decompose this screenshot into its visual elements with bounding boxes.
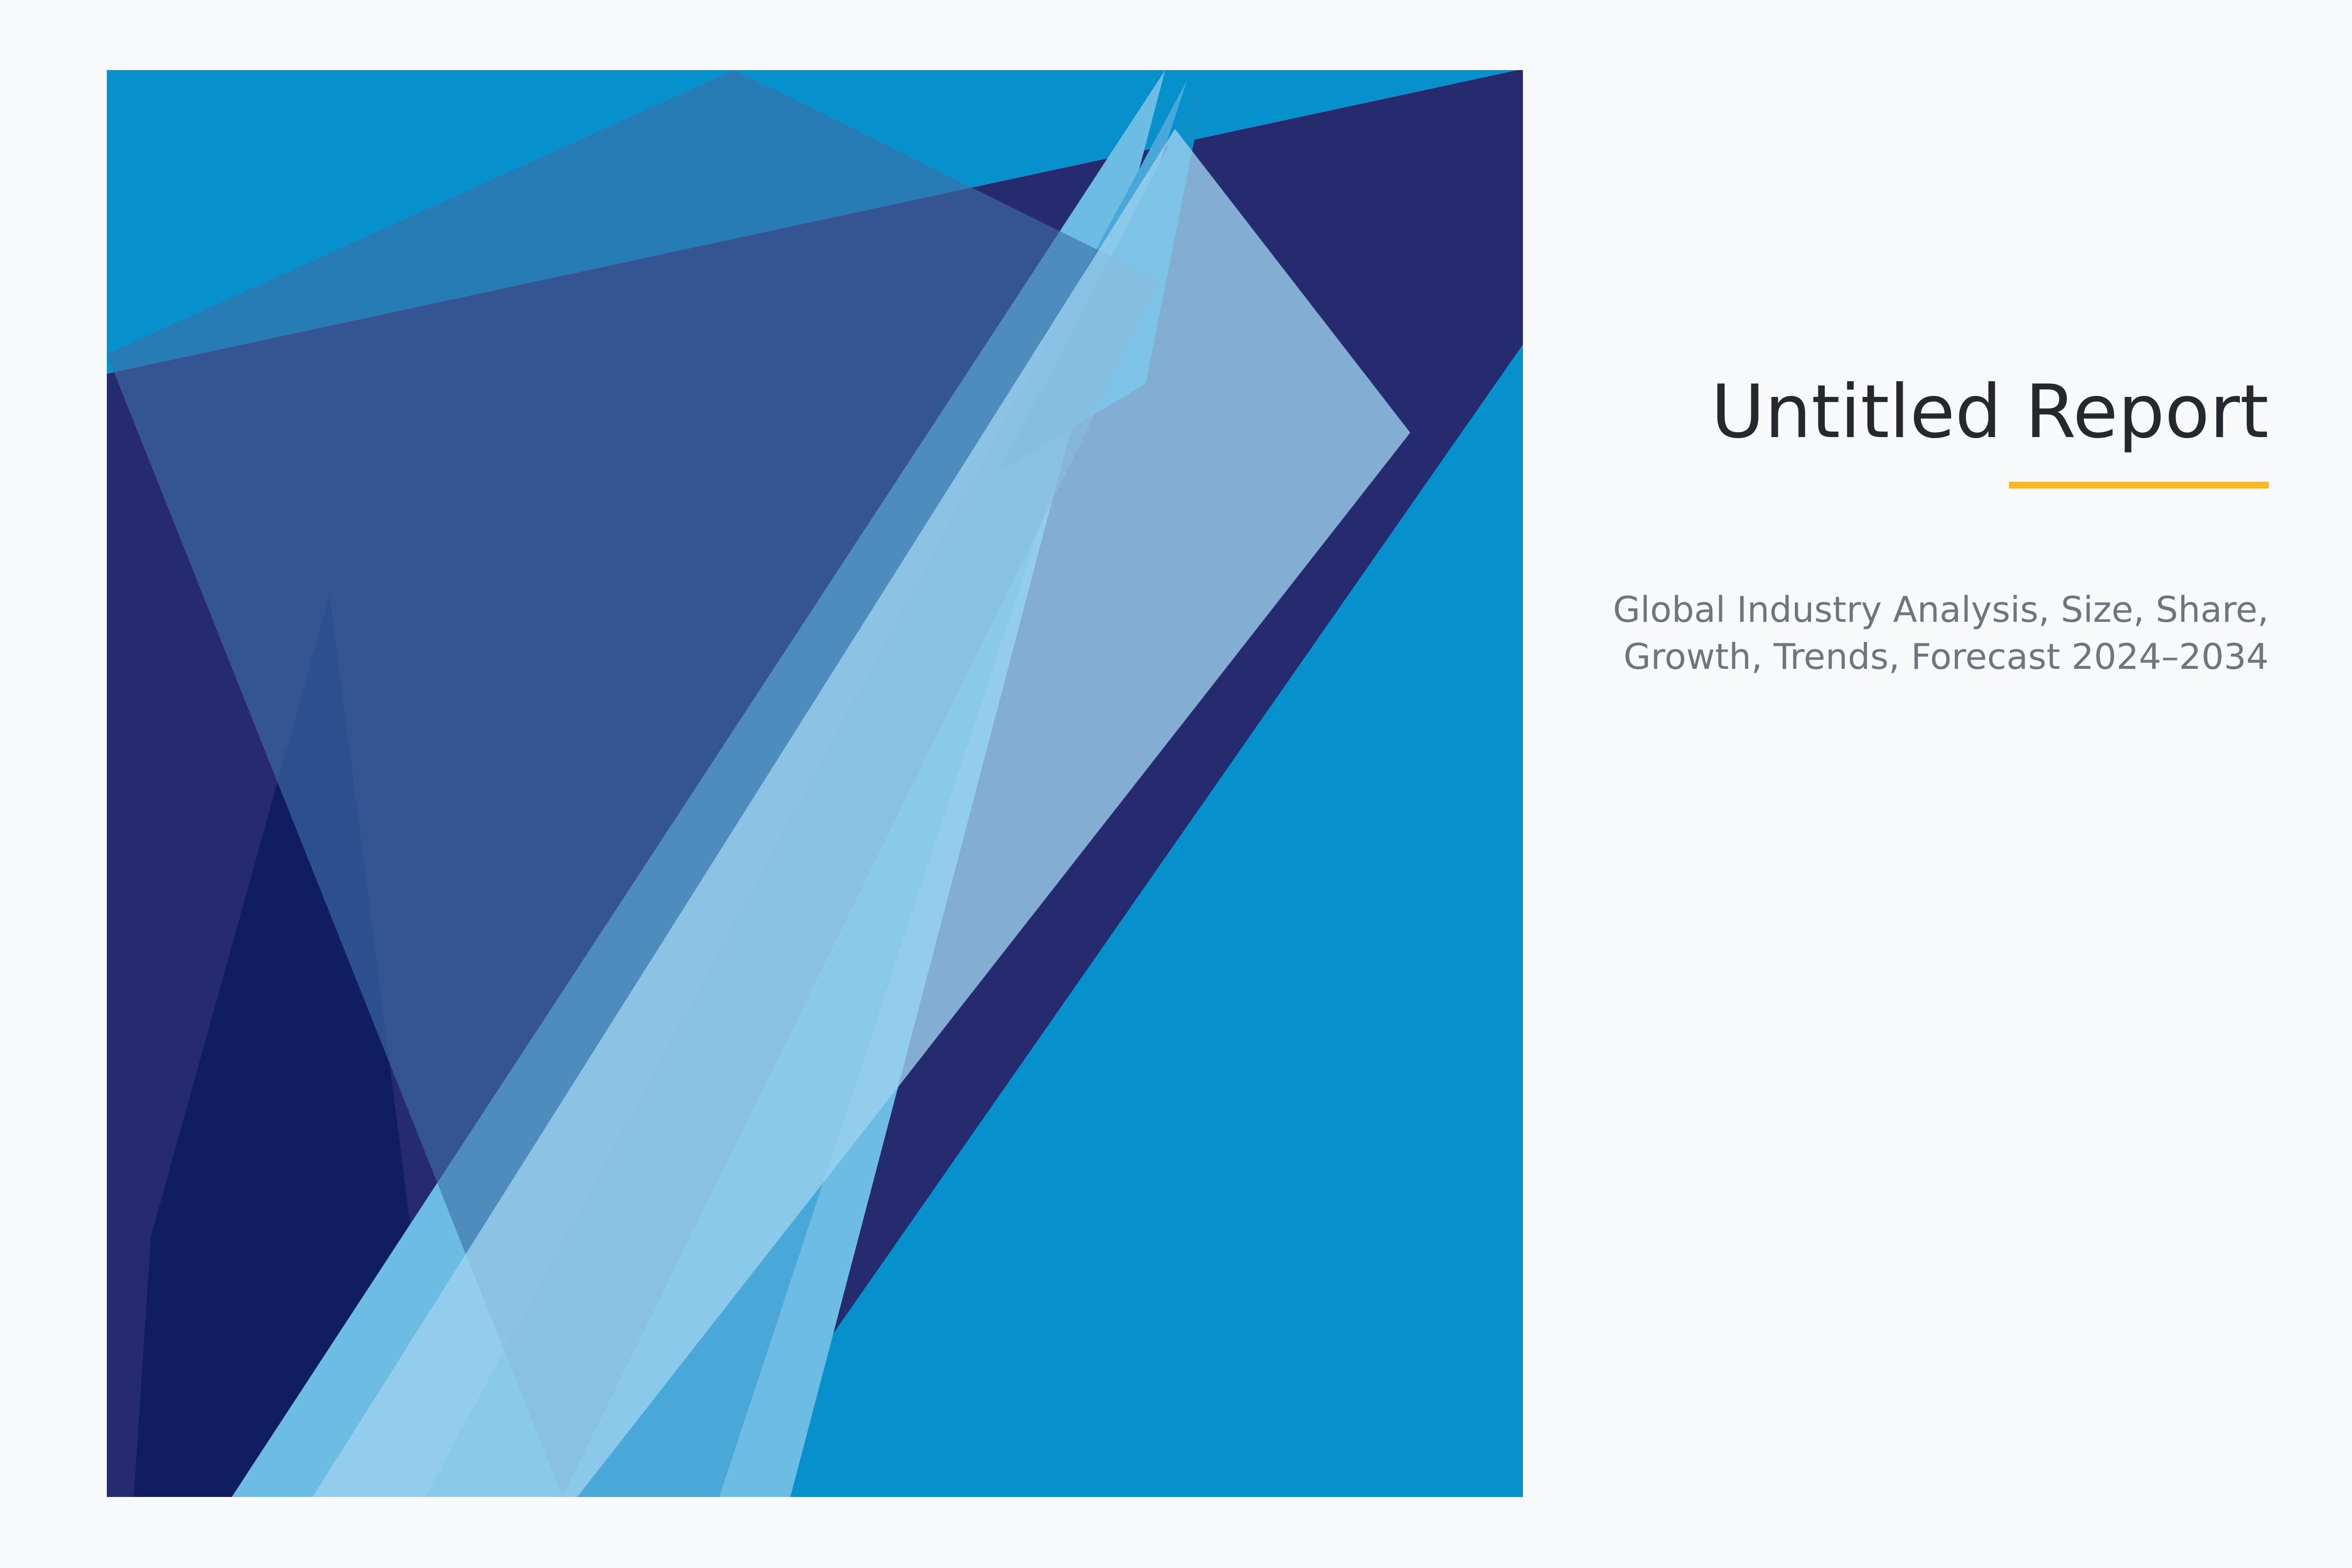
report-cover-page: Untitled Report Global Industry Analysis… — [0, 0, 2352, 1568]
abstract-geometric-graphic — [107, 70, 1523, 1497]
report-subtitle-line-1: Global Industry Analysis, Size, Share, — [1519, 587, 2269, 634]
report-subtitle-line-2: Growth, Trends, Forecast 2024–2034 — [1519, 634, 2269, 681]
title-divider-wrap — [1519, 481, 2269, 490]
page-title: Untitled Report — [1519, 372, 2269, 452]
cover-text-block: Untitled Report Global Industry Analysis… — [1519, 372, 2269, 681]
report-subtitle: Global Industry Analysis, Size, Share, G… — [1519, 587, 2269, 681]
title-divider-rule — [2009, 482, 2269, 489]
cover-artwork — [107, 70, 1523, 1497]
